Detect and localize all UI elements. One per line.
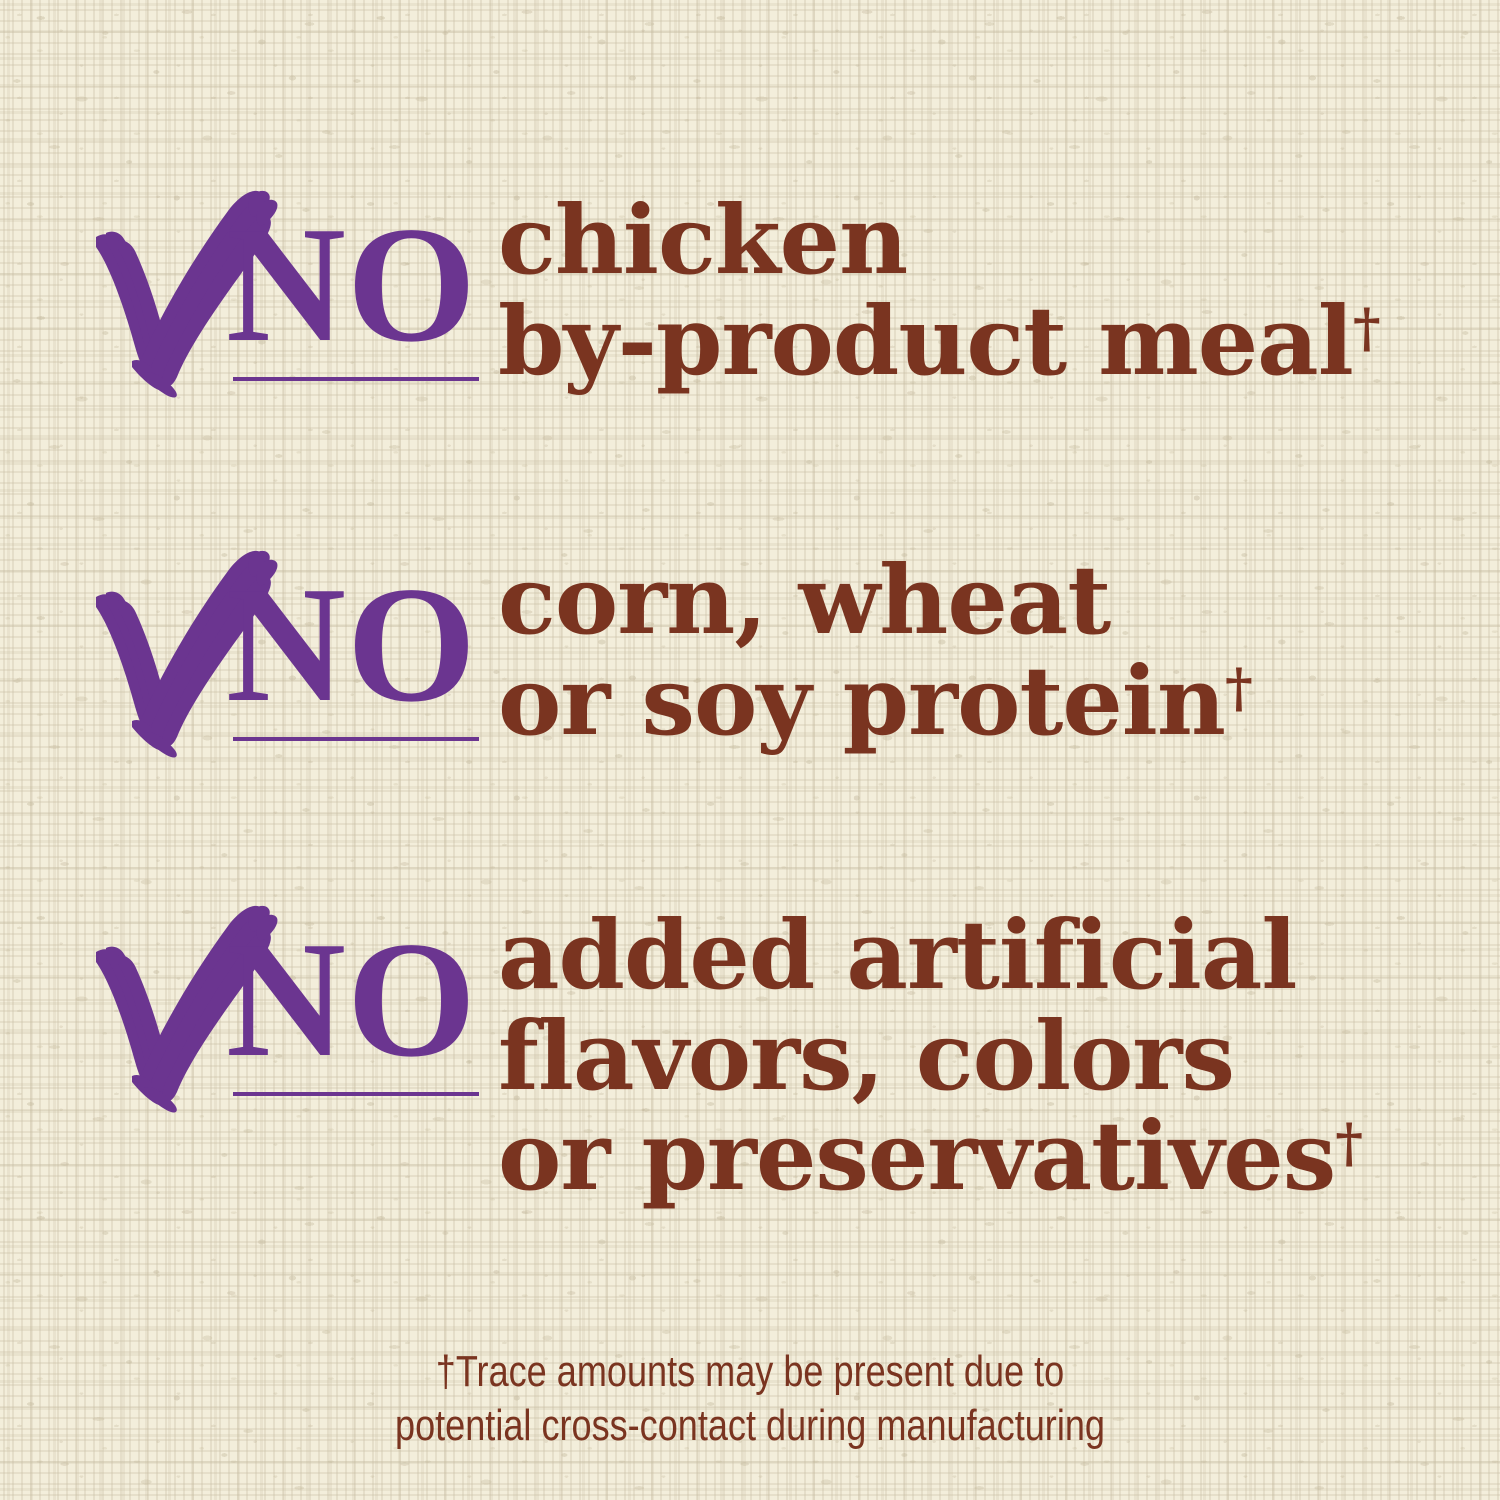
no-cluster: NO (78, 900, 498, 1130)
dagger-marker: † (1335, 1112, 1363, 1175)
claim-text: added artificial flavors, colors or pres… (498, 900, 1363, 1208)
dagger-marker: † (1225, 656, 1253, 719)
claim-row-artificial-flavors-colors-preservatives: NO added artificial flavors, colors or p… (78, 900, 1363, 1208)
no-cluster: NO (78, 185, 498, 415)
footnote: †Trace amounts may be present due to pot… (135, 1345, 1365, 1452)
no-claims-poster: NO chicken by-product meal† (0, 0, 1500, 1500)
claim-row-corn-wheat-soy: NO corn, wheat or soy protein† (78, 545, 1253, 775)
poster-content: NO chicken by-product meal† (0, 0, 1500, 1500)
no-underline (233, 377, 479, 381)
claim-text: chicken by-product meal† (498, 185, 1381, 392)
dagger-marker: † (1353, 296, 1381, 359)
claim-line: or soy protein† (498, 652, 1253, 753)
claim-row-chicken-by-product-meal: NO chicken by-product meal† (78, 185, 1381, 415)
claim-line-text: or soy protein (498, 646, 1225, 757)
claim-line: added artificial (498, 906, 1363, 1007)
claim-line: or preservatives† (498, 1107, 1363, 1208)
claim-line: chicken (498, 191, 1381, 292)
claim-line: flavors, colors (498, 1007, 1363, 1108)
footnote-line-1: †Trace amounts may be present due to (135, 1345, 1365, 1399)
no-underline (233, 737, 479, 741)
no-cluster: NO (78, 545, 498, 775)
no-underline (233, 1092, 479, 1096)
claim-line-text: or preservatives (498, 1101, 1335, 1212)
claim-line: corn, wheat (498, 551, 1253, 652)
no-label: NO (226, 916, 477, 1082)
footnote-line-2: potential cross-contact during manufactu… (135, 1399, 1365, 1453)
claim-line: by-product meal† (498, 292, 1381, 393)
claim-line-text: by-product meal (498, 286, 1353, 397)
no-label: NO (226, 561, 477, 727)
claim-text: corn, wheat or soy protein† (498, 545, 1253, 752)
no-label: NO (226, 201, 477, 367)
